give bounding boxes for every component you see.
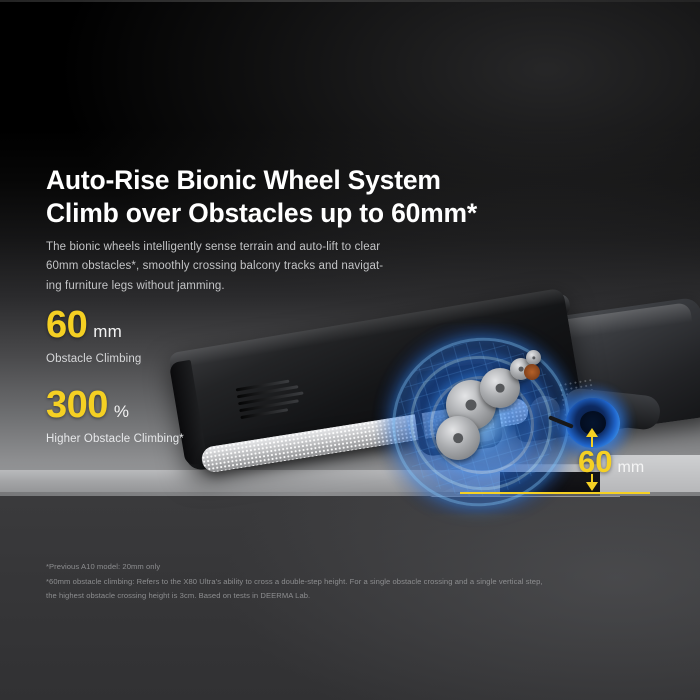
footnote-line-1: *Previous A10 model: 20mm only bbox=[46, 560, 646, 575]
top-edge-hairline bbox=[0, 0, 700, 2]
headline-line-1: Auto-Rise Bionic Wheel System bbox=[46, 165, 441, 195]
callout-value-row: 60 mm bbox=[578, 446, 644, 477]
footnote-line-3: the highest obstacle crossing height is … bbox=[46, 589, 646, 604]
stat-value-row: 300 % bbox=[46, 386, 184, 424]
wheel-guard-bracket bbox=[408, 355, 504, 458]
product-feature-banner: Auto-Rise Bionic Wheel System Climb over… bbox=[0, 0, 700, 700]
body-line-2: 60mm obstacles*, smoothly crossing balco… bbox=[46, 257, 386, 277]
stat-label: Higher Obstacle Climbing* bbox=[46, 433, 184, 445]
callout-value: 60 bbox=[578, 446, 612, 477]
stat-value-row: 60 mm bbox=[46, 306, 141, 344]
body-line-1: The bionic wheels intelligently sense te… bbox=[46, 238, 386, 258]
footnote-disclaimer: *Previous A10 model: 20mm only *60mm obs… bbox=[46, 560, 646, 604]
height-measurement-callout: 60 mm bbox=[560, 430, 690, 498]
footnote-line-2: *60mm obstacle climbing: Refers to the X… bbox=[46, 575, 646, 590]
stat-unit: mm bbox=[93, 322, 122, 342]
body-description: The bionic wheels intelligently sense te… bbox=[46, 238, 386, 297]
stat-value: 60 bbox=[46, 306, 87, 344]
page-title: Auto-Rise Bionic Wheel System Climb over… bbox=[46, 164, 606, 231]
headline-line-2: Climb over Obstacles up to 60mm* bbox=[46, 197, 606, 230]
arrow-down-icon bbox=[586, 482, 598, 491]
stat-unit: % bbox=[114, 402, 129, 422]
callout-unit: mm bbox=[617, 459, 644, 477]
stat-obstacle-climbing: 60 mm Obstacle Climbing bbox=[46, 306, 141, 365]
stat-higher-obstacle-climbing: 300 % Higher Obstacle Climbing* bbox=[46, 386, 184, 445]
body-line-3: ing furniture legs without jamming. bbox=[46, 277, 386, 297]
stat-label: Obstacle Climbing bbox=[46, 353, 141, 365]
measurement-baseline bbox=[460, 492, 650, 494]
stat-value: 300 bbox=[46, 386, 108, 424]
